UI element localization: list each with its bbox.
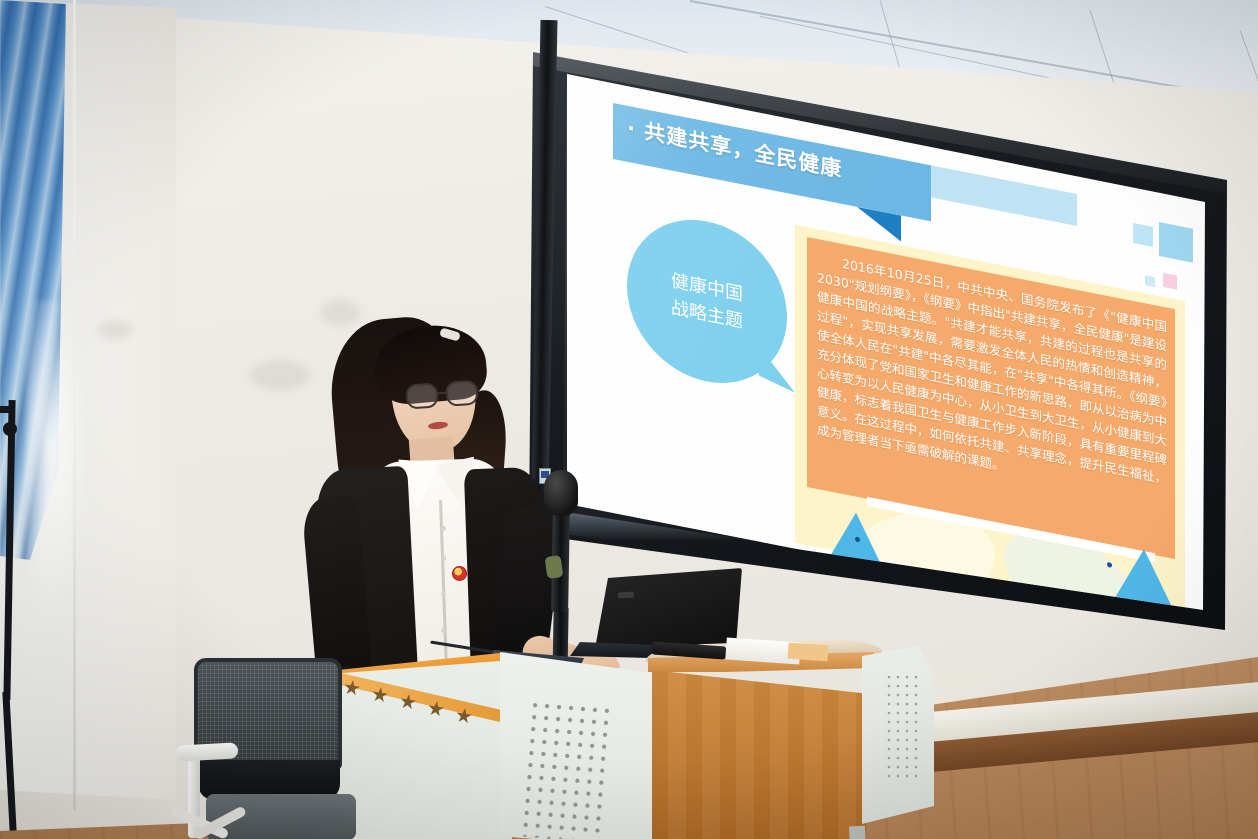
speech-bubble: 健康中国 战略主题 bbox=[627, 206, 787, 397]
podium-leg bbox=[849, 826, 867, 839]
microphone-head bbox=[544, 470, 578, 516]
glasses-lens-left bbox=[405, 382, 439, 409]
shirt-button bbox=[441, 526, 446, 531]
deco-square-pink bbox=[1163, 273, 1177, 290]
shirt-button bbox=[441, 592, 446, 597]
office-chair[interactable] bbox=[176, 648, 376, 839]
photo-scene: · 共建共享，全民健康 2016年10月25日，中共中央、国务院发布了《"健康中… bbox=[0, 0, 1258, 839]
wall-smudge bbox=[98, 320, 132, 340]
slide-dot-left bbox=[855, 536, 860, 542]
party-emblem-badge bbox=[452, 566, 467, 581]
deco-square-3 bbox=[1145, 275, 1155, 287]
glasses bbox=[405, 379, 481, 410]
slide-dot-right bbox=[1107, 562, 1112, 568]
paper-sheet-orange bbox=[787, 643, 828, 662]
microphone-clip bbox=[545, 555, 564, 579]
chair-armrest bbox=[176, 742, 239, 761]
deco-square-1 bbox=[1133, 223, 1153, 247]
podium-speaker-grille bbox=[521, 701, 615, 839]
laptop-logo bbox=[618, 591, 634, 598]
podium-wood-front bbox=[652, 666, 870, 839]
tripod-stand bbox=[0, 400, 50, 830]
podium-side-grille bbox=[886, 674, 920, 784]
shirt-button bbox=[441, 556, 446, 561]
glasses-lens-right bbox=[445, 380, 479, 407]
deco-square-2 bbox=[1159, 222, 1193, 263]
podium bbox=[330, 628, 930, 839]
